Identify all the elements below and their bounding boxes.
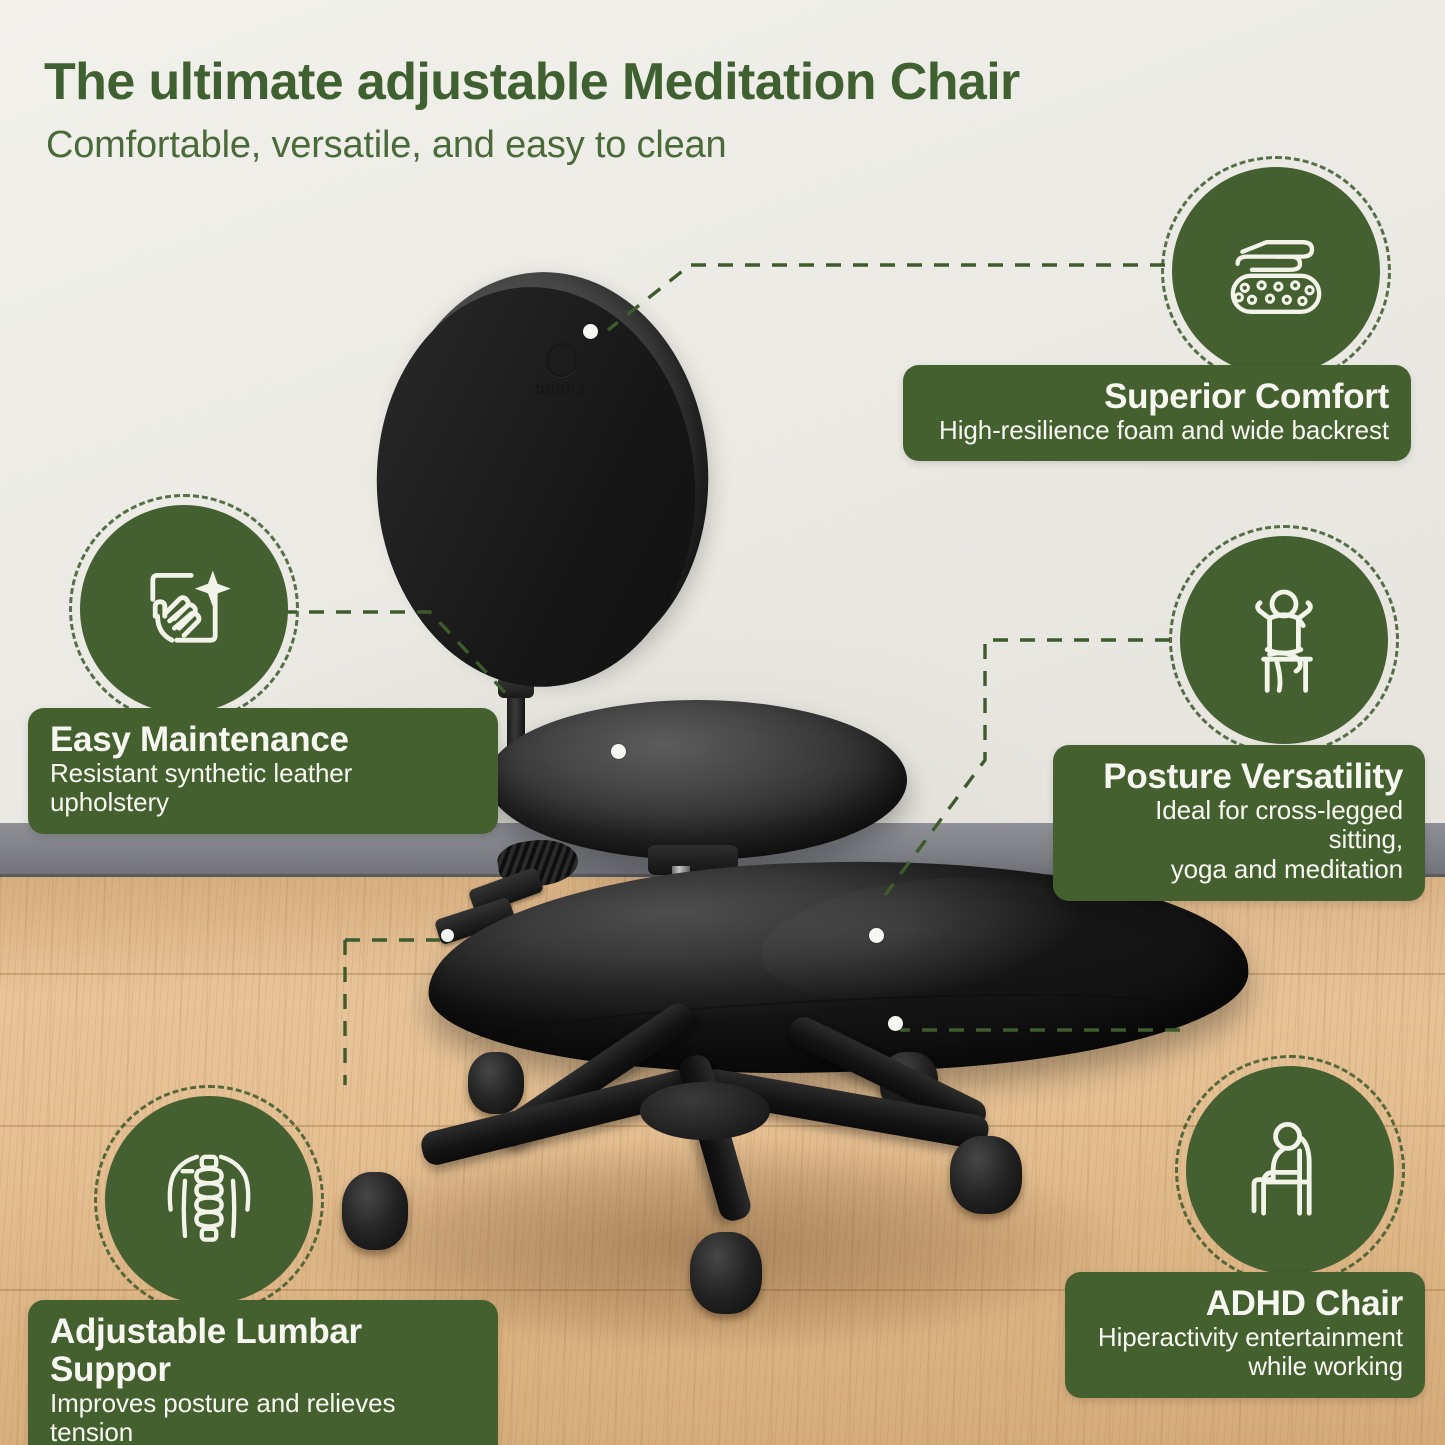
caster-wheel: [342, 1172, 408, 1250]
feature-subtitle: Improves posture and relieves tension: [50, 1389, 476, 1445]
spine-back-anatomy-icon: [149, 1140, 269, 1260]
backrest-edge: [363, 276, 708, 697]
feature-title: Adjustable Lumbar Suppor: [50, 1313, 476, 1389]
feature-label-posture-versatility: Posture Versatility Ideal for cross-legg…: [1053, 745, 1425, 901]
hand-over-foam-cushion-icon: [1216, 211, 1336, 331]
feature-title: Posture Versatility: [1075, 758, 1403, 796]
feature-icon-adhd-chair: [1186, 1066, 1394, 1274]
feature-label-easy-maintenance: Easy Maintenance Resistant synthetic lea…: [28, 708, 498, 834]
feature-subtitle: Resistant synthetic leather upholstery: [50, 759, 476, 818]
page-subtitle: Comfortable, versatile, and easy to clea…: [46, 124, 726, 167]
base-hub: [640, 1082, 770, 1140]
feature-icon-superior-comfort: [1172, 167, 1380, 375]
feature-subtitle: High-resilience foam and wide backrest: [925, 416, 1389, 446]
feature-icon-posture-versatility: [1180, 536, 1388, 744]
feature-icon-easy-maintenance: [80, 505, 288, 713]
person-relaxing-crossed-legs-icon: [1224, 580, 1344, 700]
caster-wheel: [690, 1232, 762, 1314]
feature-subtitle-line1: Hiperactivity entertainment: [1087, 1323, 1403, 1353]
chair-seat-cushion: [487, 700, 907, 860]
caster-wheel: [468, 1052, 524, 1114]
feature-label-adhd-chair: ADHD Chair Hiperactivity entertainment w…: [1065, 1272, 1425, 1398]
hotspot-dot-backrest: [583, 324, 598, 339]
feature-subtitle-line2: while working: [1087, 1352, 1403, 1382]
feature-label-superior-comfort: Superior Comfort High-resilience foam an…: [903, 365, 1411, 461]
feature-title: Easy Maintenance: [50, 721, 476, 759]
wiping-hand-sparkle-icon: [124, 549, 244, 669]
infographic-canvas: bubha The u: [0, 0, 1445, 1445]
hotspot-dot-kneepad: [869, 928, 884, 943]
chair-backrest: bubha: [376, 261, 721, 682]
feature-label-lumbar-support: Adjustable Lumbar Suppor Improves postur…: [28, 1300, 498, 1445]
feature-title: Superior Comfort: [925, 378, 1389, 416]
hotspot-dot-platform-edge: [888, 1016, 903, 1031]
sparkle-icon: [195, 571, 231, 607]
hotspot-dot-seat: [611, 744, 626, 759]
feature-subtitle-line1: Ideal for cross-legged sitting,: [1075, 796, 1403, 855]
caster-wheel: [950, 1136, 1022, 1214]
feature-icon-lumbar-support: [105, 1096, 313, 1304]
feature-title: ADHD Chair: [1087, 1285, 1403, 1323]
feature-subtitle-line2: yoga and meditation: [1075, 855, 1403, 885]
page-title: The ultimate adjustable Meditation Chair: [44, 52, 1020, 112]
person-sitting-on-chair-icon: [1230, 1110, 1350, 1230]
lever-hotspot-dot: [441, 929, 454, 942]
